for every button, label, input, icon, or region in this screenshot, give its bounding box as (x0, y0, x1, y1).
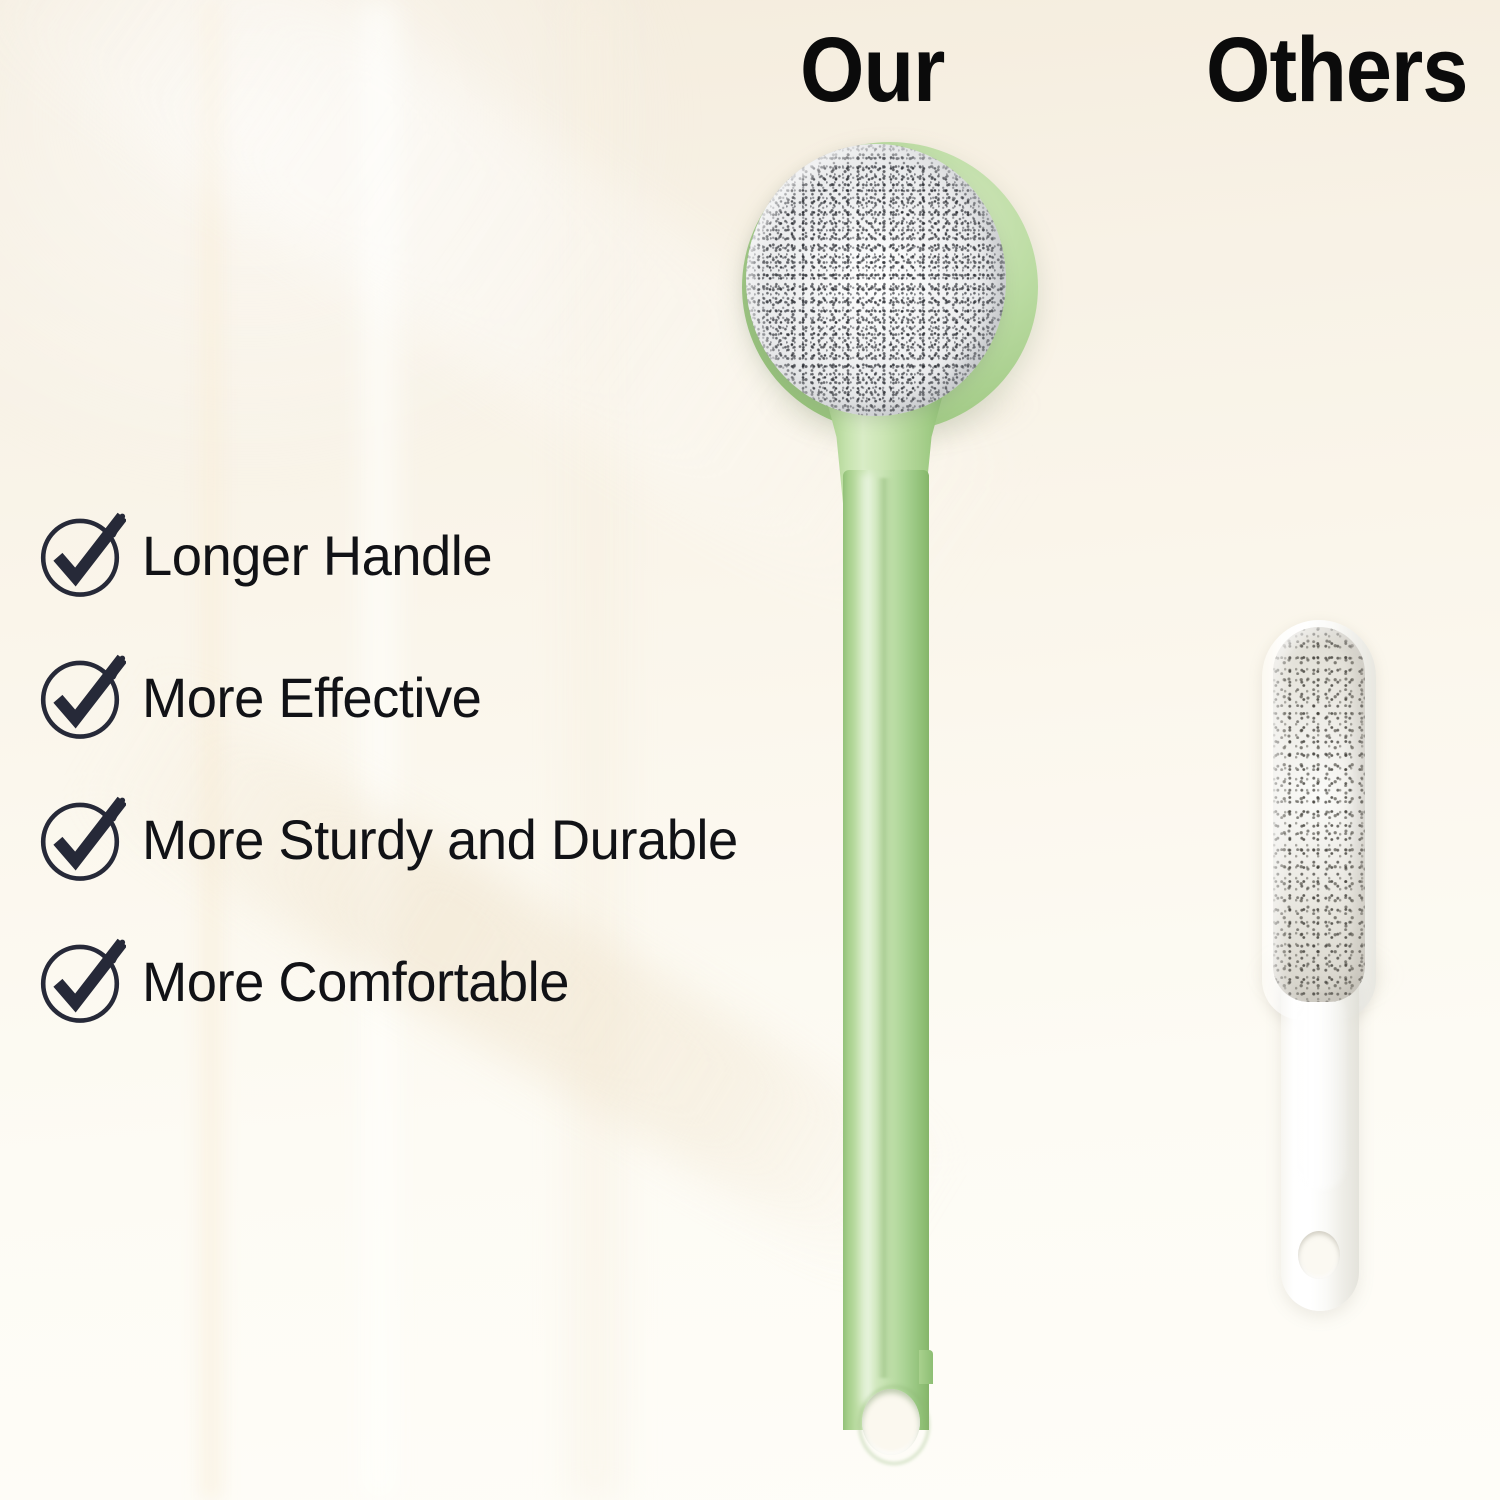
our-product-pumice-disc (746, 144, 1006, 416)
feature-item-more-sturdy-and-durable: More Sturdy and Durable (34, 768, 834, 910)
our-product-hang-hole (862, 1389, 920, 1455)
product-comparison-image: Our Others Longer Handle More Ef (0, 0, 1500, 1500)
check-circle-icon (34, 651, 126, 743)
feature-label: More Effective (142, 665, 481, 730)
feature-item-longer-handle: Longer Handle (34, 484, 834, 626)
other-product-pumice-pad (1273, 627, 1365, 1002)
our-product-handle (843, 470, 929, 1430)
feature-label: More Comfortable (142, 949, 569, 1014)
check-circle-icon (34, 509, 126, 601)
our-product-handle-notch (919, 1350, 933, 1384)
heading-our: Our (800, 24, 945, 116)
check-circle-icon (34, 793, 126, 885)
our-product-handle-groove (877, 478, 893, 1378)
check-circle-icon (34, 935, 126, 1027)
feature-list: Longer Handle More Effective More St (34, 484, 834, 1052)
other-product-handle (1281, 975, 1359, 1311)
our-product-head (742, 142, 1038, 432)
feature-label: Longer Handle (142, 523, 492, 588)
other-product-shadow (1250, 940, 1400, 1010)
our-product-shadow (760, 360, 1040, 450)
our-product-neck (818, 368, 950, 518)
our-product-hang-hole-ring (858, 1385, 930, 1465)
other-product-handle-dish (1294, 990, 1346, 1190)
feature-item-more-effective: More Effective (34, 626, 834, 768)
other-product-hang-hole (1298, 1231, 1340, 1279)
feature-label: More Sturdy and Durable (142, 807, 738, 872)
our-product-handle-end (838, 1332, 934, 1496)
our-product-handle-highlight (858, 474, 875, 1404)
heading-others: Others (1207, 24, 1468, 116)
feature-item-more-comfortable: More Comfortable (34, 910, 834, 1052)
background-glow (0, 0, 700, 500)
other-product-frame (1262, 620, 1376, 1020)
